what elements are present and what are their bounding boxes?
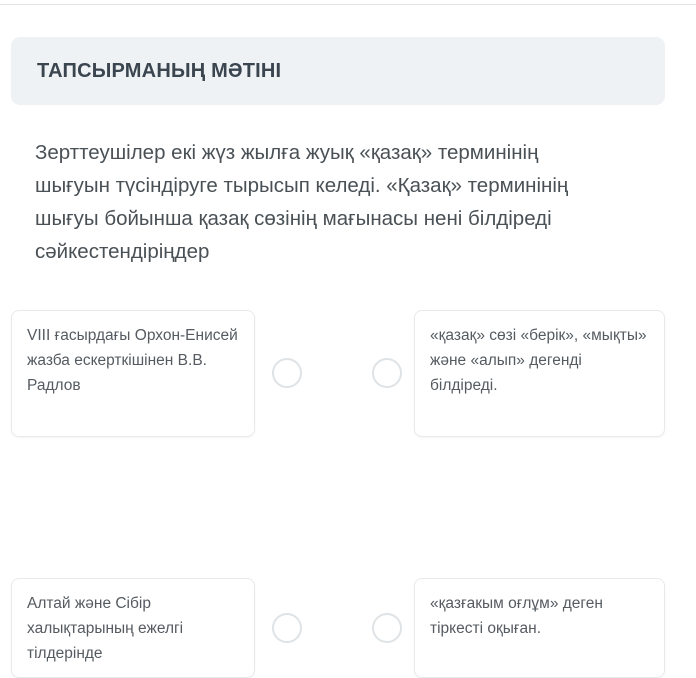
task-header-panel: ТАПСЫРМАНЫҢ МӘТІНІ: [11, 37, 665, 105]
matching-grid: VIII ғасырдағы Орхон-Енисей жазба ескерт…: [0, 310, 696, 539]
right-option-card-2[interactable]: «қазғакым оғлұм» деген тіркесті оқыған.: [414, 578, 665, 678]
question-text: Зерттеушілер екі жүз жылға жуық «қазақ» …: [35, 136, 580, 268]
right-connector-dot-2[interactable]: [372, 613, 402, 643]
left-option-card-2[interactable]: Алтай және Сібір халықтарының ежелгі тіл…: [11, 578, 255, 678]
matching-row: Алтай және Сібір халықтарының ежелгі тіл…: [0, 438, 696, 539]
left-connector-dot-2[interactable]: [272, 613, 302, 643]
left-option-card-1[interactable]: VIII ғасырдағы Орхон-Енисей жазба ескерт…: [11, 310, 255, 437]
matching-row: VIII ғасырдағы Орхон-Енисей жазба ескерт…: [0, 310, 696, 438]
right-connector-dot-1[interactable]: [372, 358, 402, 388]
right-option-card-1[interactable]: «қазақ» сөзі «берік», «мықты» және «алып…: [414, 310, 665, 437]
page-title: ТАПСЫРМАНЫҢ МӘТІНІ: [37, 59, 281, 83]
left-connector-dot-1[interactable]: [272, 358, 302, 388]
top-divider: [0, 4, 696, 5]
